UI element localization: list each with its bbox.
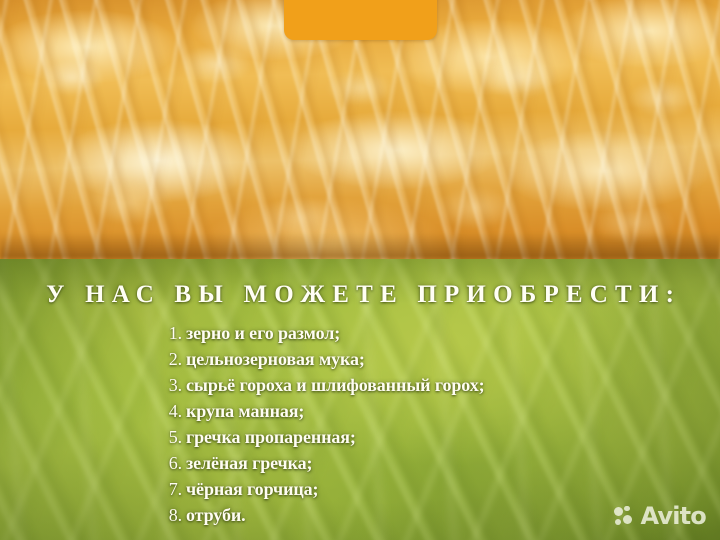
list-item-label: отруби. <box>186 505 246 526</box>
list-item-number: 3. <box>160 375 182 396</box>
list-item: 4. крупа манная; <box>160 401 485 427</box>
list-item-number: 4. <box>160 401 182 422</box>
list-item: 3. сырьё гороха и шлифованный горох; <box>160 375 485 401</box>
list-item-number: 2. <box>160 349 182 370</box>
green-grass-panel: У НАС ВЫ МОЖЕТЕ ПРИОБРЕСТИ: 1. зерно и е… <box>0 259 720 540</box>
list-item-label: зелёная гречка; <box>186 453 312 474</box>
list-item: 8. отруби. <box>160 505 485 531</box>
photo-bottom-shadow <box>0 233 720 259</box>
list-item: 2. цельнозерновая мука; <box>160 349 485 375</box>
list-item: 6. зелёная гречка; <box>160 453 485 479</box>
list-item-number: 6. <box>160 453 182 474</box>
list-item-label: гречка пропаренная; <box>186 427 356 448</box>
list-item-label: сырьё гороха и шлифованный горох; <box>186 375 485 396</box>
avito-watermark: Avito <box>614 504 706 528</box>
avito-logo-icon <box>614 506 635 527</box>
offer-list: 1. зерно и его размол; 2. цельнозерновая… <box>160 323 485 531</box>
list-item-label: чёрная горчица; <box>186 479 318 500</box>
orange-badge-box <box>284 0 437 40</box>
ad-poster: У НАС ВЫ МОЖЕТЕ ПРИОБРЕСТИ: 1. зерно и е… <box>0 0 720 540</box>
list-item-label: зерно и его размол; <box>186 323 340 344</box>
list-item-number: 8. <box>160 505 182 526</box>
list-item-number: 7. <box>160 479 182 500</box>
list-item-number: 1. <box>160 323 182 344</box>
list-item: 7. чёрная горчица; <box>160 479 485 505</box>
list-item: 1. зерно и его размол; <box>160 323 485 349</box>
offer-content: У НАС ВЫ МОЖЕТЕ ПРИОБРЕСТИ: 1. зерно и е… <box>0 259 720 540</box>
list-item-label: цельнозерновая мука; <box>186 349 365 370</box>
offer-heading: У НАС ВЫ МОЖЕТЕ ПРИОБРЕСТИ: <box>0 281 720 309</box>
list-item: 5. гречка пропаренная; <box>160 427 485 453</box>
list-item-label: крупа манная; <box>186 401 304 422</box>
avito-wordmark: Avito <box>640 504 706 528</box>
list-item-number: 5. <box>160 427 182 448</box>
